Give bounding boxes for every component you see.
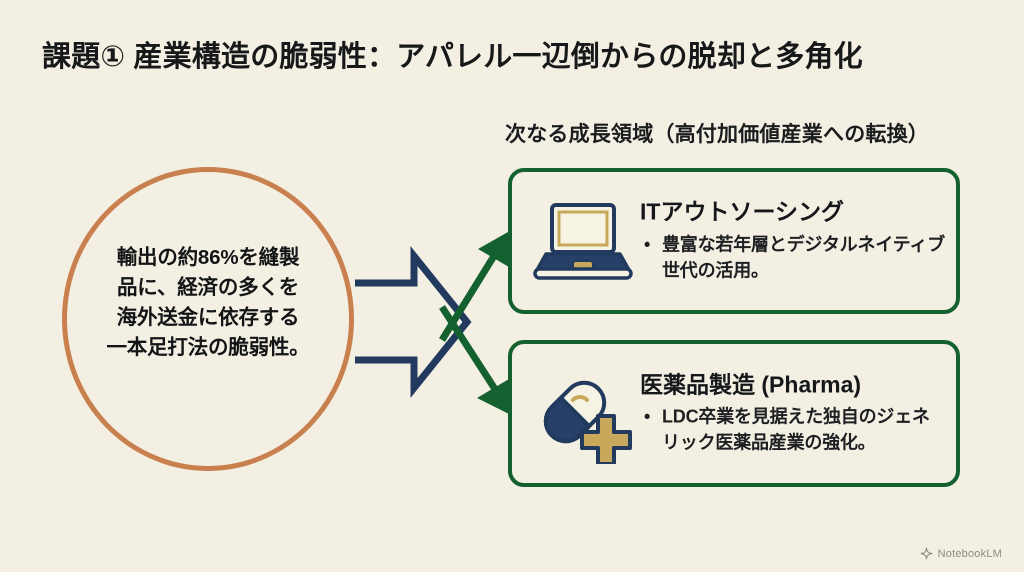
card-pharma-body: 医薬品製造 (Pharma) LDC卒業を見据えた独自のジェネリック医薬品産業の…	[640, 371, 946, 456]
problem-line-2: 品に、経済の多くを	[62, 273, 354, 303]
page-title: 課題① 産業構造の脆弱性：アパレル一辺倒からの脱却と多角化	[42, 33, 942, 75]
block-arrow-icon	[355, 256, 467, 388]
green-arrow-up-icon	[442, 232, 509, 340]
watermark-label: NotebookLM	[938, 548, 1002, 560]
card-pharma-bullet: LDC卒業を見据えた独自のジェネリック医薬品産業の強化。	[640, 404, 946, 456]
pill-cross-icon	[530, 364, 636, 464]
laptop-icon	[530, 191, 636, 291]
card-it-body: ITアウトソーシング 豊富な若年層とデジタルネイティブ世代の活用。	[640, 199, 946, 284]
problem-circle-text: 輸出の約86%を縫製 品に、経済の多くを 海外送金に依存する 一本足打法の脆弱性…	[62, 243, 354, 363]
branch-heading: 次なる成長領域（高付加価値産業への転換）	[505, 118, 975, 148]
slide-canvas: 課題① 産業構造の脆弱性：アパレル一辺倒からの脱却と多角化 次なる成長領域（高付…	[0, 0, 1024, 572]
problem-line-3: 海外送金に依存する	[62, 303, 354, 333]
problem-line-1: 輸出の約86%を縫製	[62, 243, 354, 273]
problem-line-4: 一本足打法の脆弱性。	[62, 333, 354, 363]
green-arrow-down-icon	[442, 307, 509, 414]
card-it-bullet: 豊富な若年層とデジタルネイティブ世代の活用。	[640, 231, 946, 283]
notebooklm-watermark: NotebookLM	[920, 547, 1002, 560]
card-pharma-title: 医薬品製造 (Pharma)	[640, 371, 946, 399]
card-it-title: ITアウトソーシング	[640, 199, 946, 227]
card-it-outsourcing[interactable]: ITアウトソーシング 豊富な若年層とデジタルネイティブ世代の活用。	[508, 168, 960, 314]
card-pharma[interactable]: 医薬品製造 (Pharma) LDC卒業を見据えた独自のジェネリック医薬品産業の…	[508, 340, 960, 487]
notebooklm-spark-icon	[920, 547, 933, 560]
